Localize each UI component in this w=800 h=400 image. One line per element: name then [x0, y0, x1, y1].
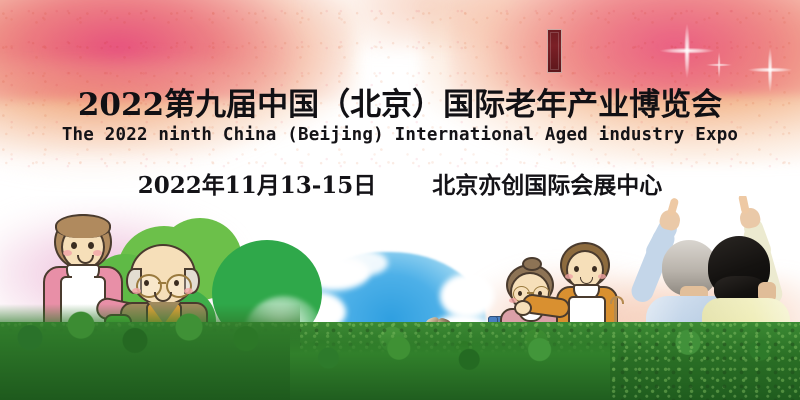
illustration-band	[0, 196, 800, 400]
top-middle-wash	[300, 0, 560, 50]
sparkle-star-left-icon	[660, 24, 714, 78]
cloud-7	[336, 250, 388, 276]
event-meta-row: 2022年11月13-15日 北京亦创国际会展中心	[0, 166, 800, 200]
sparkle-star-small-icon	[706, 52, 732, 78]
page-title-english: The 2022 ninth China (Beijing) Internati…	[0, 124, 800, 146]
event-date: 2022年11月13-15日	[138, 166, 377, 200]
expo-poster: 2022第九届中国（北京）国际老年产业博览会 The 2022 ninth Ch…	[0, 0, 800, 400]
event-venue: 北京亦创国际会展中心	[432, 166, 662, 200]
top-right-pink-wash	[450, 0, 800, 95]
hedge-middle-cluster	[290, 330, 610, 400]
red-seal-bar-icon	[547, 29, 562, 73]
page-title-chinese: 2022第九届中国（北京）国际老年产业博览会	[0, 86, 800, 124]
top-left-pink-wash	[0, 0, 350, 100]
cloud-5	[440, 274, 494, 318]
hedge-left-cluster	[0, 304, 300, 400]
